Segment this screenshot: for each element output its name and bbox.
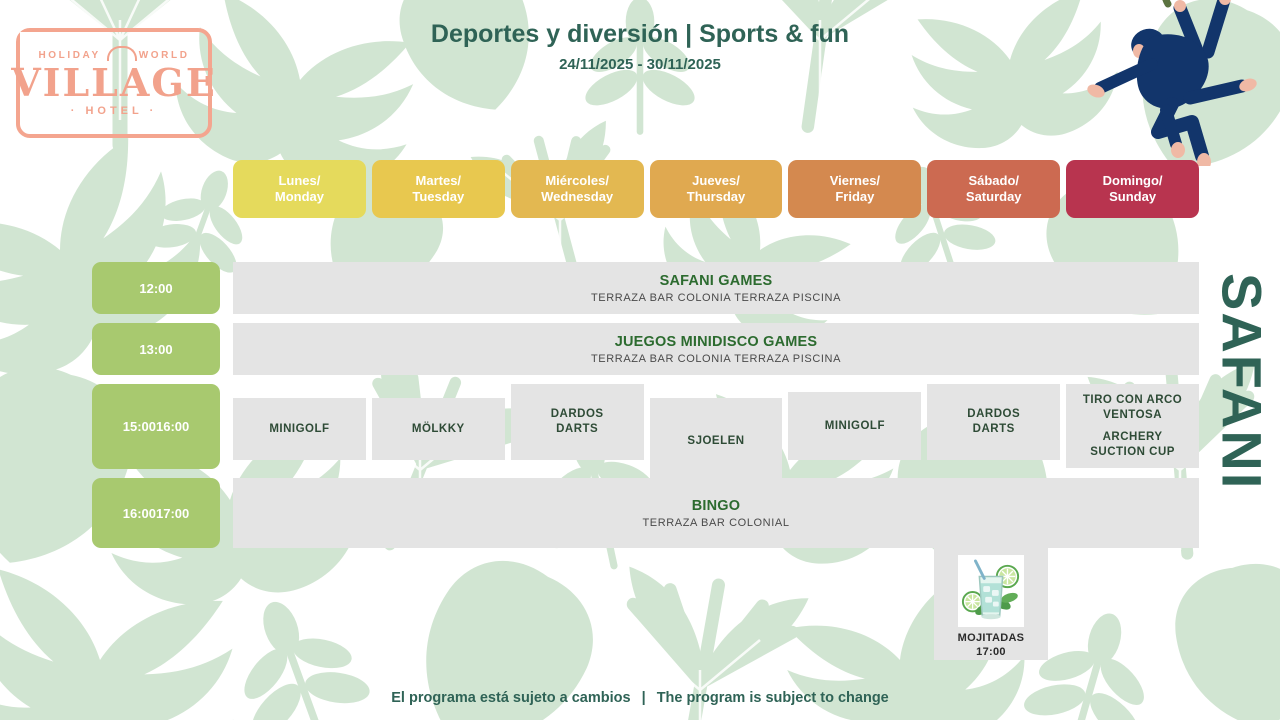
activity-line (1083, 423, 1182, 430)
activity-name: SAFANI GAMES (660, 273, 773, 289)
day-label-en: Thursday (687, 189, 746, 205)
day-label-es: Viernes/ (830, 173, 880, 189)
activity-line: DARTS (551, 422, 604, 437)
activity-cell[interactable]: MINIGOLF (233, 398, 366, 460)
time-line: 15:00 (123, 418, 156, 435)
time-column: 12:0013:0015:0016:0016:0017:00 (92, 262, 220, 557)
time-line: 16:00 (156, 418, 189, 435)
activity-location: TERRAZA BAR COLONIA TERRAZA PISCINA (591, 353, 841, 365)
day-header-wednesday[interactable]: Miércoles/Wednesday (511, 160, 644, 218)
day-label-es: Martes/ (416, 173, 462, 189)
time-slot-0: 12:00 (92, 262, 220, 314)
schedule-grid: SAFANI GAMESTERRAZA BAR COLONIA TERRAZA … (233, 262, 1199, 557)
activity-line: TIRO CON ARCO (1083, 393, 1182, 408)
time-line: 16:00 (123, 505, 156, 522)
activity-line: MINIGOLF (269, 422, 329, 437)
activity-line: DARTS (967, 422, 1020, 437)
activity-line: SJOELEN (687, 434, 744, 449)
logo-holiday-text: HOLIDAY (38, 50, 100, 61)
footer-text-es: El programa está sujeto a cambios (391, 690, 630, 706)
day-label-en: Sunday (1109, 189, 1156, 205)
mojito-glass-icon (958, 555, 1024, 627)
activity-cell-text: SJOELEN (687, 434, 744, 449)
schedule-row-0[interactable]: SAFANI GAMESTERRAZA BAR COLONIA TERRAZA … (233, 262, 1199, 314)
day-label-es: Lunes/ (278, 173, 320, 189)
schedule-row-3[interactable]: BINGOTERRAZA BAR COLONIAL (233, 478, 1199, 548)
mojitadas-time: 17:00 (976, 646, 1006, 658)
day-header-row: Lunes/MondayMartes/TuesdayMiércoles/Wedn… (233, 160, 1199, 218)
time-slot-1: 13:00 (92, 323, 220, 375)
mojitadas-card[interactable]: MOJITADAS 17:00 (934, 548, 1048, 660)
hotel-logo: HOLIDAY WORLD VILLAGE · HOTEL · (16, 28, 212, 138)
safani-vertical-brand: SAFANI (1210, 222, 1274, 542)
activity-line: MÖLKKY (412, 422, 465, 437)
day-header-monday[interactable]: Lunes/Monday (233, 160, 366, 218)
day-label-en: Saturday (966, 189, 1022, 205)
day-label-en: Tuesday (412, 189, 464, 205)
day-label-es: Jueves/ (692, 173, 740, 189)
activity-name: JUEGOS MINIDISCO GAMES (615, 334, 818, 350)
activity-cell-text: MINIGOLF (825, 419, 885, 434)
schedule-row-1[interactable]: JUEGOS MINIDISCO GAMESTERRAZA BAR COLONI… (233, 323, 1199, 375)
day-label-en: Monday (275, 189, 324, 205)
logo-top-line: HOLIDAY WORLD (38, 50, 189, 61)
day-label-es: Domingo/ (1103, 173, 1163, 189)
day-label-en: Friday (835, 189, 874, 205)
day-header-saturday[interactable]: Sábado/Saturday (927, 160, 1060, 218)
day-label-es: Sábado/ (968, 173, 1019, 189)
day-header-tuesday[interactable]: Martes/Tuesday (372, 160, 505, 218)
activity-cell-text: DARDOSDARTS (551, 407, 604, 437)
activity-cell-text: DARDOSDARTS (967, 407, 1020, 437)
footer-text-en: The program is subject to change (657, 690, 889, 706)
activity-cell-text: TIRO CON ARCOVENTOSAARCHERYSUCTION CUP (1083, 393, 1182, 460)
time-slot-2: 15:0016:00 (92, 384, 220, 469)
activity-cell[interactable]: TIRO CON ARCOVENTOSAARCHERYSUCTION CUP (1066, 384, 1199, 468)
time-slot-3: 16:0017:00 (92, 478, 220, 548)
safani-brand-text: SAFANI (1210, 273, 1275, 490)
logo-world-text: WORLD (139, 50, 190, 61)
day-header-thursday[interactable]: Jueves/Thursday (650, 160, 783, 218)
activity-cell[interactable]: MÖLKKY (372, 398, 505, 460)
day-label-es: Miércoles/ (545, 173, 609, 189)
footer-separator: | (635, 690, 653, 706)
logo-village-text: VILLAGE (11, 63, 217, 103)
activity-cell[interactable]: MINIGOLF (788, 392, 921, 460)
time-line: 17:00 (156, 505, 189, 522)
time-line: 13:00 (139, 341, 172, 358)
activity-location: TERRAZA BAR COLONIA TERRAZA PISCINA (591, 292, 841, 304)
time-line: 12:00 (139, 280, 172, 297)
day-header-friday[interactable]: Viernes/Friday (788, 160, 921, 218)
activity-cell-text: MINIGOLF (269, 422, 329, 437)
schedule-row-2: MINIGOLFMÖLKKYDARDOSDARTSSJOELENMINIGOLF… (233, 384, 1199, 469)
activity-line: MINIGOLF (825, 419, 885, 434)
footer-disclaimer: El programa está sujeto a cambios | The … (0, 690, 1280, 706)
logo-hotel-text: · HOTEL · (71, 105, 158, 117)
activity-line: VENTOSA (1083, 408, 1182, 423)
activity-line: DARDOS (967, 407, 1020, 422)
sun-arc-icon (107, 50, 133, 61)
activity-cell[interactable]: SJOELEN (650, 398, 783, 484)
day-label-en: Wednesday (541, 189, 613, 205)
activity-name: BINGO (692, 498, 741, 514)
activity-cell[interactable]: DARDOSDARTS (511, 384, 644, 460)
activity-location: TERRAZA BAR COLONIAL (642, 517, 789, 529)
day-header-sunday[interactable]: Domingo/Sunday (1066, 160, 1199, 218)
activity-line: ARCHERY (1083, 430, 1182, 445)
activity-cell[interactable]: DARDOSDARTS (927, 384, 1060, 460)
activity-line: DARDOS (551, 407, 604, 422)
activity-line: SUCTION CUP (1083, 445, 1182, 460)
activity-cell-text: MÖLKKY (412, 422, 465, 437)
mojitadas-label: MOJITADAS (958, 632, 1025, 644)
